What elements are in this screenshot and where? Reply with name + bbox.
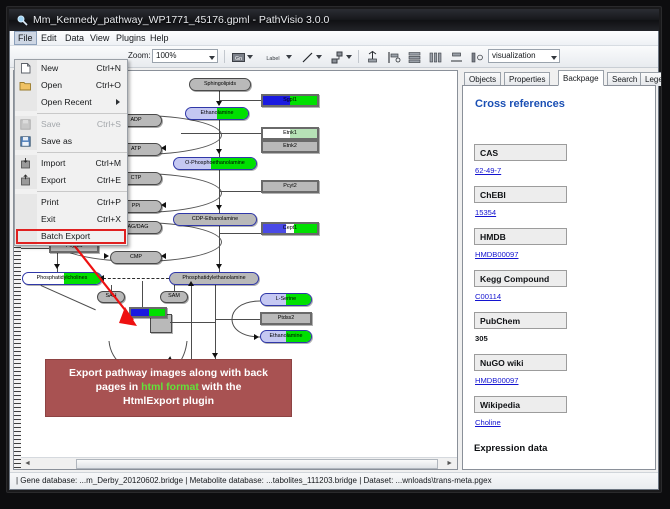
save-as-icon <box>19 135 32 148</box>
xref-label-chebi: ChEBI <box>474 186 567 203</box>
callout-line3: HtmlExport plugin <box>123 395 214 407</box>
menu-item-export[interactable]: Export Ctrl+E <box>15 172 127 189</box>
cross-references-heading: Cross references <box>475 98 565 110</box>
label-dropdown-icon[interactable] <box>286 55 292 59</box>
side-panel-tabs: Objects Properties Backpage Search Legen… <box>462 70 656 86</box>
xref-value-cas[interactable]: 62-49-7 <box>475 166 501 175</box>
xref-label-kegg: Kegg Compound <box>474 270 567 287</box>
window-frame: Mm_Kennedy_pathway_WP1771_45176.gpml - P… <box>6 6 662 493</box>
interaction-tool-button[interactable] <box>329 49 346 66</box>
tab-search[interactable]: Search <box>607 72 642 86</box>
xref-label-wikipedia: Wikipedia <box>474 396 567 413</box>
save-disk-icon <box>19 118 32 131</box>
scroll-left-icon[interactable]: ◄ <box>24 460 31 467</box>
gene-product-tool-button[interactable]: Gn <box>230 49 247 66</box>
xref-value-hmdb[interactable]: HMDB00097 <box>475 250 518 259</box>
callout-line2-b: with the <box>199 381 242 393</box>
xref-value-pubchem: 305 <box>475 334 488 343</box>
menu-separator <box>37 152 127 153</box>
align-left-button[interactable] <box>385 49 402 66</box>
callout-line2-a: pages in <box>96 381 142 393</box>
menu-item-new[interactable]: New Ctrl+N <box>15 60 127 77</box>
svg-text:Label: Label <box>266 56 279 62</box>
chevron-down-icon <box>209 56 215 60</box>
xref-label-cas: CAS <box>474 144 567 161</box>
app-icon <box>17 15 28 26</box>
application-body: File Edit Data View Plugins Help Zoom: 1… <box>9 31 659 490</box>
tab-backpage[interactable]: Backpage <box>558 70 604 86</box>
title-bar: Mm_Kennedy_pathway_WP1771_45176.gpml - P… <box>9 9 659 32</box>
new-document-icon <box>19 62 32 75</box>
menu-plugins[interactable]: Plugins <box>113 32 149 44</box>
annotation-callout: Export pathway images along with back pa… <box>45 359 292 417</box>
stack-vertical-button[interactable] <box>406 49 423 66</box>
callout-line1: Export pathway images along with back <box>69 367 268 379</box>
line-tool-button[interactable] <box>299 49 316 66</box>
file-menu-popup[interactable]: New Ctrl+N Open Ctrl+O Open Recent Save … <box>14 59 128 246</box>
toolbar-separator <box>224 50 225 63</box>
expression-data-heading: Expression data <box>474 443 547 454</box>
tab-objects[interactable]: Objects <box>464 72 501 86</box>
xref-value-nugo[interactable]: HMDB00097 <box>475 376 518 385</box>
status-bar-text: | Gene database: ...m_Derby_20120602.bri… <box>16 476 492 485</box>
tab-legend[interactable]: Legend <box>640 72 662 86</box>
chevron-down-icon <box>551 56 557 60</box>
import-icon <box>19 157 32 170</box>
submenu-arrow-icon <box>116 99 120 105</box>
distribute-horizontal-button[interactable] <box>427 49 444 66</box>
menu-item-open[interactable]: Open Ctrl+O <box>15 77 127 94</box>
export-icon <box>19 174 32 187</box>
menu-item-save-as[interactable]: Save as <box>15 133 127 150</box>
folder-open-icon <box>19 79 32 92</box>
toolbar-separator <box>358 50 359 63</box>
visualization-combo[interactable]: visualization <box>488 49 560 63</box>
zoom-value: 100% <box>156 51 176 60</box>
scrollbar-thumb[interactable] <box>76 459 438 469</box>
menu-item-open-recent[interactable]: Open Recent <box>15 94 127 111</box>
callout-text: Export pathway images along with back pa… <box>69 367 268 409</box>
xref-value-wikipedia[interactable]: Choline <box>475 418 501 427</box>
backpage-content: Cross references CAS 62-49-7 ChEBI 15354… <box>462 85 656 470</box>
zoom-label: Zoom: <box>128 51 151 60</box>
menu-view[interactable]: View <box>87 32 112 44</box>
svg-text:Gn: Gn <box>235 56 242 62</box>
zoom-combo[interactable]: 100% <box>152 49 218 63</box>
menu-help[interactable]: Help <box>147 32 172 44</box>
xref-label-pubchem: PubChem <box>474 312 567 329</box>
menu-file[interactable]: File <box>14 31 37 45</box>
line-dropdown-icon[interactable] <box>316 55 322 59</box>
gene-product-dropdown-icon[interactable] <box>247 55 253 59</box>
menu-separator <box>37 113 127 114</box>
menu-item-print[interactable]: Print Ctrl+P <box>15 194 127 211</box>
visualization-icon[interactable] <box>469 49 486 66</box>
menu-item-exit[interactable]: Exit Ctrl+X <box>15 211 127 228</box>
interaction-dropdown-icon[interactable] <box>346 55 352 59</box>
side-panel: Objects Properties Backpage Search Legen… <box>462 70 656 470</box>
xref-label-hmdb: HMDB <box>474 228 567 245</box>
align-bottom-button[interactable] <box>448 49 465 66</box>
xref-label-nugo: NuGO wiki <box>474 354 567 371</box>
visualization-value: visualization <box>492 51 536 60</box>
menu-item-import[interactable]: Import Ctrl+M <box>15 155 127 172</box>
menu-bar: File Edit Data View Plugins Help <box>10 31 658 46</box>
canvas-horizontal-scrollbar[interactable]: ◄ ► <box>21 457 457 469</box>
menu-data[interactable]: Data <box>62 32 87 44</box>
menu-item-save: Save Ctrl+S <box>15 116 127 133</box>
menu-edit[interactable]: Edit <box>38 32 60 44</box>
xref-value-kegg[interactable]: C00114 <box>475 292 501 301</box>
tab-properties[interactable]: Properties <box>504 72 550 86</box>
scroll-right-icon[interactable]: ► <box>446 460 453 467</box>
status-bar: | Gene database: ...m_Derby_20120602.bri… <box>10 472 658 489</box>
label-tool-button[interactable]: Label <box>260 49 286 66</box>
xref-value-chebi[interactable]: 15354 <box>475 208 496 217</box>
screenshot-root: Mm_Kennedy_pathway_WP1771_45176.gpml - P… <box>0 0 670 509</box>
menu-item-batch-export[interactable]: Batch Export <box>15 228 127 245</box>
window-title: Mm_Kennedy_pathway_WP1771_45176.gpml - P… <box>33 13 329 28</box>
callout-highlight: html format <box>141 381 199 393</box>
menu-separator <box>37 191 127 192</box>
align-top-button[interactable] <box>364 49 381 66</box>
